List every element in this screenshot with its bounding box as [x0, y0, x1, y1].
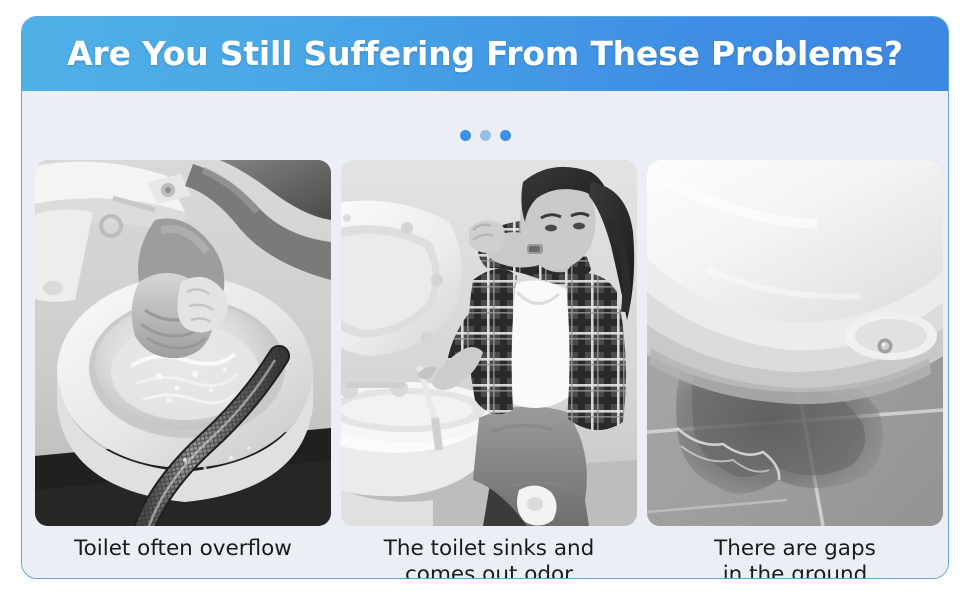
problem-panel-gaps: There are gaps in the ground — [647, 160, 943, 579]
photo-toilet-odor — [341, 160, 637, 526]
problems-card: Are You Still Suffering From These Probl… — [21, 16, 949, 579]
card-header-banner: Are You Still Suffering From These Probl… — [21, 16, 949, 91]
page-title: Are You Still Suffering From These Probl… — [67, 34, 903, 73]
panel-caption-overflow: Toilet often overflow — [35, 536, 331, 562]
problem-panel-odor: The toilet sinks and comes out odor — [341, 160, 637, 579]
caption-line: Toilet often overflow — [35, 536, 331, 562]
panel-caption-odor: The toilet sinks and comes out odor — [341, 536, 637, 579]
pagination-dot-2[interactable] — [480, 130, 491, 141]
problem-panel-overflow: Toilet often overflow — [35, 160, 331, 579]
pagination-dot-1[interactable] — [460, 130, 471, 141]
pagination-dots — [22, 130, 948, 141]
card-body: Toilet often overflow — [22, 92, 948, 578]
photo-toilet-overflow — [35, 160, 331, 526]
problem-panels: Toilet often overflow — [35, 160, 935, 579]
screenshot-root: Are You Still Suffering From These Probl… — [0, 0, 970, 600]
caption-line: comes out odor — [341, 562, 637, 579]
panel-caption-gaps: There are gaps in the ground — [647, 536, 943, 579]
caption-line: There are gaps — [647, 536, 943, 562]
photo-floor-gaps — [647, 160, 943, 526]
pagination-dot-3[interactable] — [500, 130, 511, 141]
caption-line: in the ground — [647, 562, 943, 579]
caption-line: The toilet sinks and — [341, 536, 637, 562]
